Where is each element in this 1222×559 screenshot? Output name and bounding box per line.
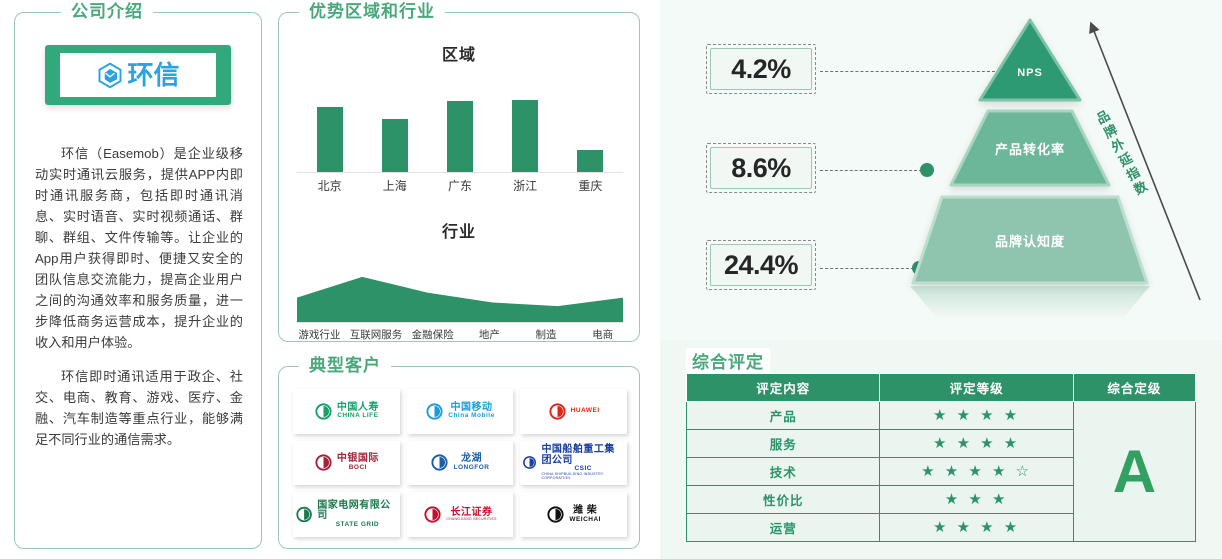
- client-name-en: LONGFOR: [453, 465, 489, 472]
- bar: [317, 107, 343, 172]
- metric-value: 8.6%: [731, 153, 791, 184]
- company-logo-word: 环信: [127, 62, 179, 88]
- metric-value: 4.2%: [731, 54, 791, 85]
- state-grid-icon: [295, 505, 313, 524]
- rating-stars: ★ ★ ★ ★ ☆: [880, 458, 1073, 486]
- rating-stars: ★ ★ ★ ★: [880, 402, 1073, 430]
- connector-line: [820, 71, 1000, 72]
- weichai-icon: [546, 505, 565, 524]
- bar-column: [431, 73, 490, 172]
- client-logo-text: 中国船舶重工集团公司CSICCHINA SHIPBUILDING INDUSTR…: [541, 445, 625, 480]
- region-bar-chart-xaxis: 北京上海广东浙江重庆: [297, 177, 623, 194]
- industry-chart-title: 行业: [279, 218, 639, 242]
- rating-stars: ★ ★ ★ ★: [880, 514, 1073, 542]
- bar: [382, 119, 408, 172]
- bar: [577, 150, 603, 172]
- company-intro-title: 公司介绍: [61, 0, 153, 24]
- client-logo-text: 长江证券CHANGJIANG SECURITIES: [446, 508, 496, 522]
- area-tick-label: 游戏行业: [291, 327, 348, 342]
- company-logo: 环信: [45, 45, 231, 105]
- bar: [512, 100, 538, 172]
- longfor-icon: [430, 453, 449, 472]
- client-logo-item[interactable]: HUAWEI: [520, 389, 627, 434]
- clients-panel-title: 典型客户: [299, 354, 391, 378]
- china-life-icon: [314, 402, 333, 421]
- client-logo-item[interactable]: 龙湖LONGFOR: [407, 441, 514, 486]
- client-logo-item[interactable]: 中国移动China Mobile: [407, 389, 514, 434]
- rating-table: 评定内容 评定等级 综合定级 产品★ ★ ★ ★A服务★ ★ ★ ★技术★ ★ …: [686, 373, 1196, 542]
- industry-area-chart: [297, 261, 623, 323]
- area-tick-label: 地产: [461, 327, 518, 342]
- column-header-level: 评定等级: [880, 374, 1073, 402]
- connector-dot: [920, 163, 934, 177]
- client-logo-item[interactable]: 中银国际BOCI: [293, 441, 400, 486]
- client-logo-text: 国家电网有限公司STATE GRID: [317, 501, 397, 529]
- client-name-en: STATE GRID: [336, 522, 379, 529]
- client-name-en: HUAWEI: [571, 408, 600, 415]
- overall-rating-panel: 综合评定 评定内容 评定等级 综合定级 产品★ ★ ★ ★A服务★ ★ ★ ★技…: [660, 340, 1222, 559]
- metric-callout-conversion: 8.6%: [706, 143, 816, 193]
- charts-panel-title: 优势区域和行业: [299, 0, 445, 24]
- industry-area-path: [297, 261, 623, 322]
- bar: [447, 101, 473, 172]
- huawei-icon: [548, 402, 567, 421]
- rating-item-name: 服务: [687, 430, 880, 458]
- client-logo-item[interactable]: 潍 柴WEICHAI: [520, 492, 627, 537]
- connector-line: [820, 268, 914, 269]
- pyramid-tier-label: NPS: [1017, 67, 1043, 79]
- client-logo-text: 中银国际BOCI: [337, 454, 379, 471]
- client-logo-item[interactable]: 长江证券CHANGJIANG SECURITIES: [407, 492, 514, 537]
- client-logo-text: HUAWEI: [571, 408, 600, 415]
- intro-paragraph: 环信即时通讯适用于政企、社交、电商、教育、游戏、医疗、金融、汽车制造等重点行业，…: [35, 366, 243, 450]
- table-header-row: 评定内容 评定等级 综合定级: [687, 374, 1196, 402]
- region-bar-chart: [297, 73, 623, 173]
- bar-tick-label: 广东: [431, 177, 490, 194]
- connector-line: [820, 170, 922, 171]
- column-header-grade: 综合定级: [1073, 374, 1195, 402]
- client-name-en: BOCI: [349, 465, 367, 472]
- region-chart-title: 区域: [279, 41, 639, 65]
- bar-tick-label: 浙江: [496, 177, 555, 194]
- rating-stars: ★ ★ ★ ★: [880, 430, 1073, 458]
- arrow-up-icon: [1080, 10, 1220, 310]
- overall-grade: A: [1073, 402, 1195, 542]
- client-logo-text: 龙湖LONGFOR: [453, 454, 489, 471]
- growth-arrow: [1080, 10, 1220, 310]
- client-name-en: China Mobile: [448, 413, 494, 420]
- rating-item-name: 技术: [687, 458, 880, 486]
- bar-column: [365, 73, 424, 172]
- boci-icon: [314, 453, 333, 472]
- rating-item-name: 运营: [687, 514, 880, 542]
- bar-column: [561, 73, 620, 172]
- bar-column: [496, 73, 555, 172]
- charts-panel: 优势区域和行业 区域 北京上海广东浙江重庆 行业 游戏行业互联网服务金融保险地产…: [278, 12, 640, 342]
- brand-funnel-panel: 4.2% 8.6% 24.4% NPS 产品转化率 品牌认知度: [660, 0, 1222, 340]
- changjiang-securities-icon: [423, 505, 442, 524]
- client-logo-item[interactable]: 国家电网有限公司STATE GRID: [293, 492, 400, 537]
- csic-icon: [522, 453, 537, 472]
- pyramid-tier-label: 产品转化率: [995, 139, 1065, 158]
- client-logo-item[interactable]: 中国船舶重工集团公司CSICCHINA SHIPBUILDING INDUSTR…: [520, 441, 627, 486]
- area-tick-label: 金融保险: [404, 327, 461, 342]
- metric-value: 24.4%: [724, 250, 798, 281]
- client-logo-text: 中国人寿CHINA LIFE: [337, 403, 379, 420]
- area-tick-label: 互联网服务: [348, 327, 405, 342]
- client-name-cn: 国家电网有限公司: [317, 501, 397, 522]
- client-logo-item[interactable]: 中国人寿CHINA LIFE: [293, 389, 400, 434]
- clients-panel: 典型客户 中国人寿CHINA LIFE中国移动China MobileHUAWE…: [278, 366, 640, 549]
- area-tick-label: 制造: [518, 327, 575, 342]
- bar-tick-label: 上海: [365, 177, 424, 194]
- industry-area-chart-xaxis: 游戏行业互联网服务金融保险地产制造电商: [291, 327, 631, 342]
- triangle-shape: [978, 18, 1082, 102]
- client-logo-grid: 中国人寿CHINA LIFE中国移动China MobileHUAWEI中银国际…: [293, 389, 627, 537]
- column-header-content: 评定内容: [687, 374, 880, 402]
- client-logo-text: 潍 柴WEICHAI: [569, 506, 601, 523]
- bar-column: [300, 73, 359, 172]
- client-name-cn: 潍 柴: [573, 506, 597, 517]
- metric-callout-awareness: 24.4%: [706, 240, 816, 290]
- intro-paragraph: 环信（Easemob）是企业级移动实时通讯云服务，提供APP内即时通讯服务商，包…: [35, 143, 243, 353]
- client-name-sub: CHINA SHIPBUILDING INDUSTRY CORPORATION: [541, 473, 625, 481]
- client-name-sub: CHANGJIANG SECURITIES: [446, 518, 496, 522]
- company-intro-text: 环信（Easemob）是企业级移动实时通讯云服务，提供APP内即时通讯服务商，包…: [35, 143, 243, 463]
- china-mobile-icon: [425, 402, 444, 421]
- metric-callout-nps: 4.2%: [706, 44, 816, 94]
- company-intro-panel: 公司介绍 环信 环信（Easemob）是企业级移动实时通讯云服务，提供APP内即…: [14, 12, 262, 549]
- bar-tick-label: 重庆: [561, 177, 620, 194]
- table-row: 产品★ ★ ★ ★A: [687, 402, 1196, 430]
- client-name-en: WEICHAI: [569, 517, 601, 524]
- client-name-cn: 中国船舶重工集团公司: [541, 445, 625, 466]
- hexagon-chat-icon: [96, 61, 124, 89]
- rating-stars: ★ ★ ★: [880, 486, 1073, 514]
- pyramid-tier-label: 品牌认知度: [995, 231, 1065, 250]
- client-name-en: CHINA LIFE: [337, 413, 378, 420]
- area-tick-label: 电商: [574, 327, 631, 342]
- bar-tick-label: 北京: [300, 177, 359, 194]
- pyramid-tier-nps: NPS: [978, 18, 1082, 102]
- rating-item-name: 产品: [687, 402, 880, 430]
- overall-rating-title: 综合评定: [686, 348, 770, 373]
- rating-item-name: 性价比: [687, 486, 880, 514]
- client-logo-text: 中国移动China Mobile: [448, 403, 494, 420]
